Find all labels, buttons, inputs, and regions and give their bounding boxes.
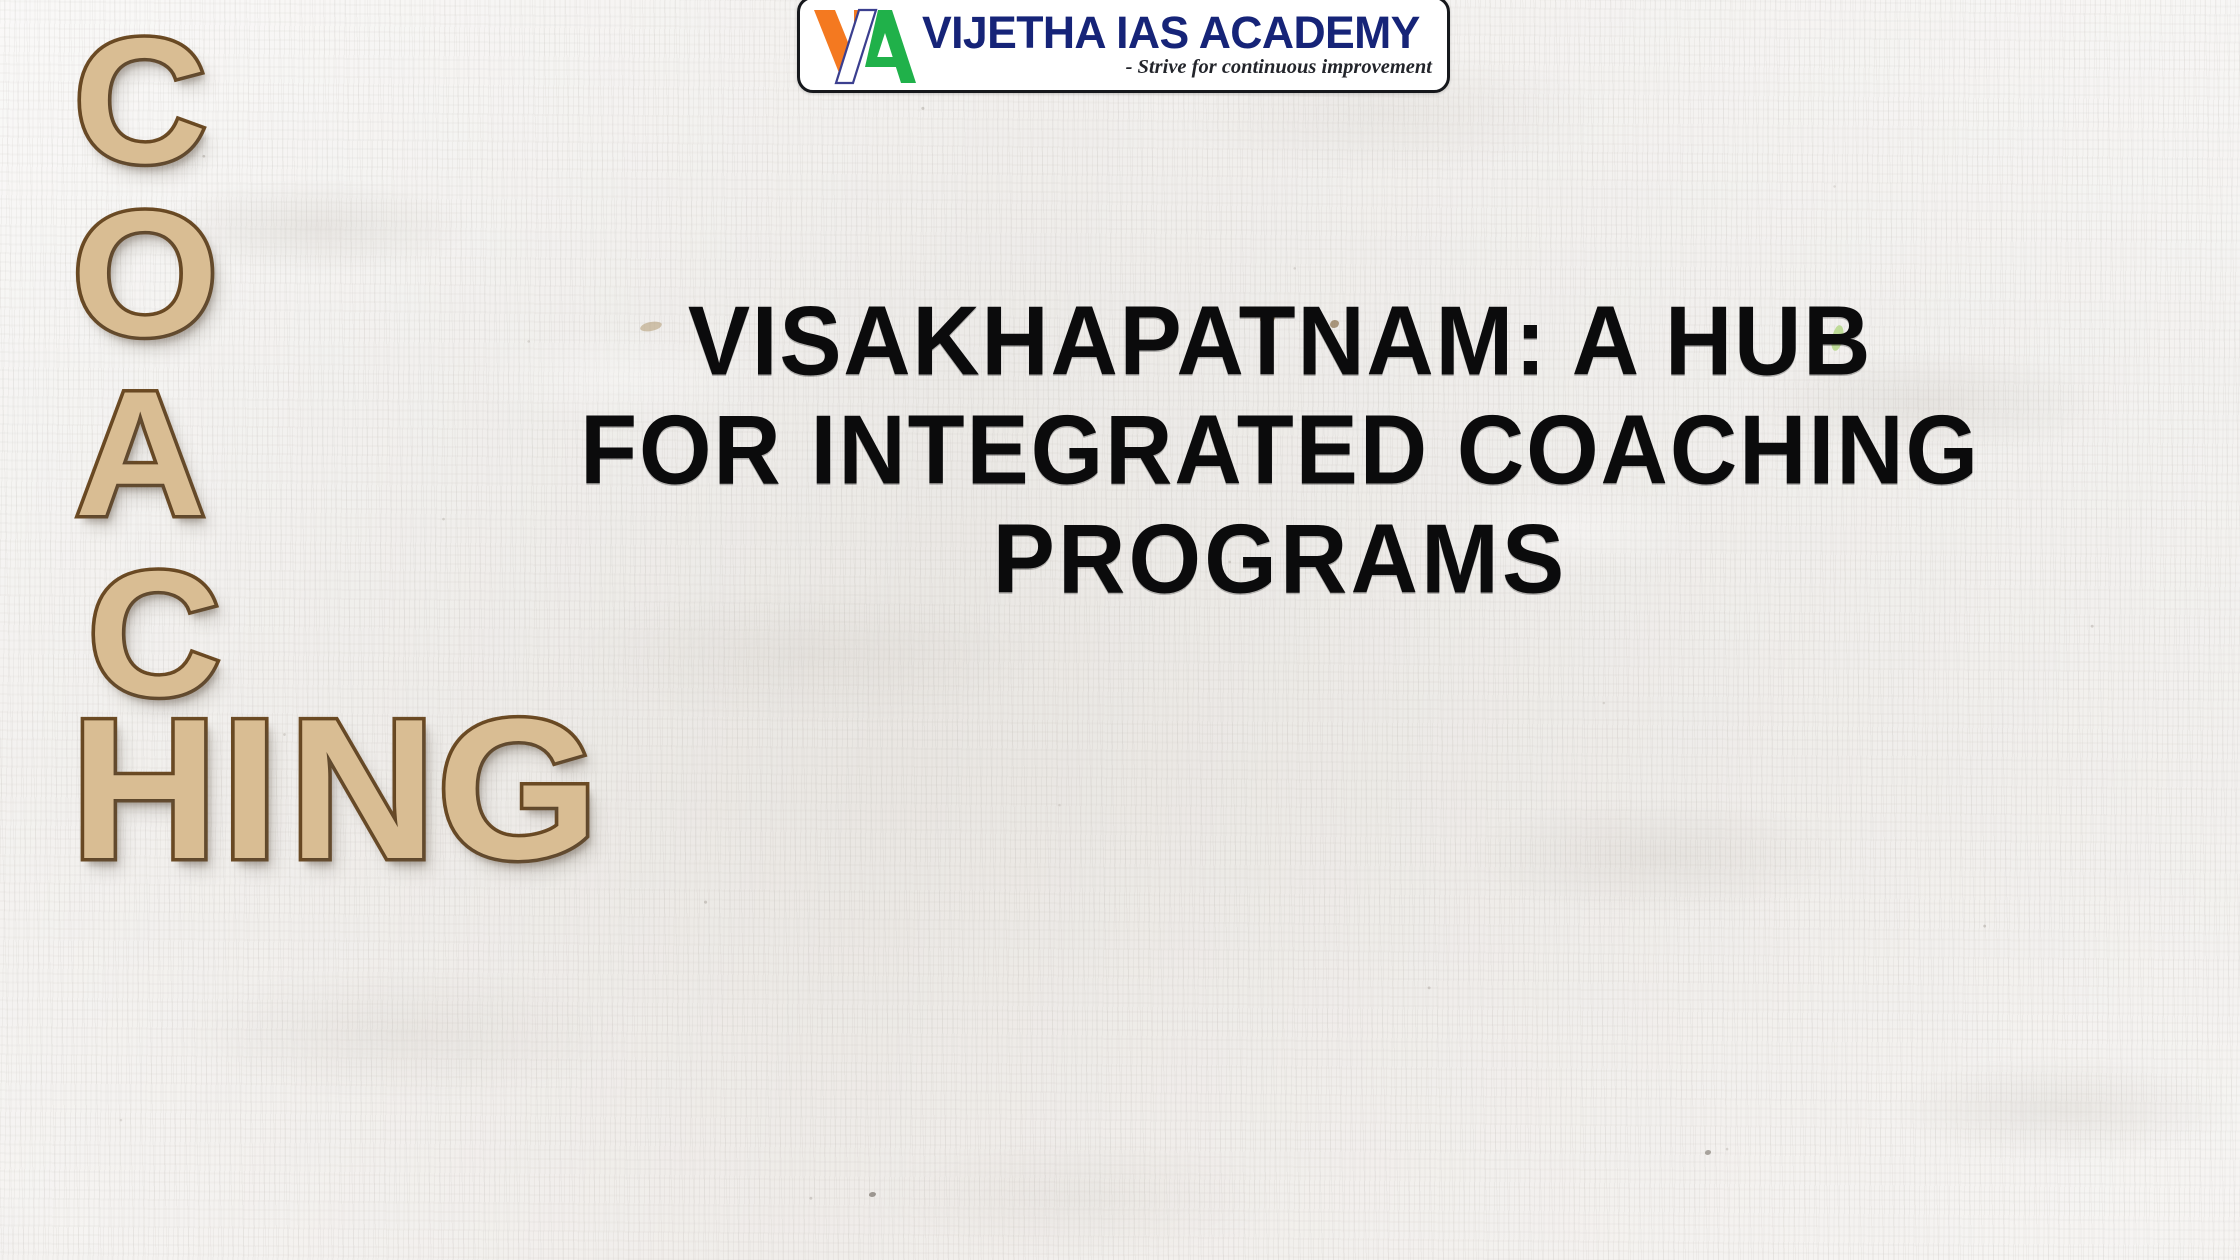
page-title: VISAKHAPATNAM: A HUB FOR INTEGRATED COAC…: [380, 286, 2180, 613]
wooden-letter-h: H: [71, 690, 218, 890]
wooden-coaching-letters: C O A C H I N G: [0, 0, 680, 1260]
wooden-letter-o: O: [72, 185, 219, 363]
poster-canvas: C O A C H I N G VISAKHAPATNAM: A HUB FOR…: [0, 0, 2240, 1260]
headline-line-3: PROGRAMS: [326, 497, 2234, 619]
wooden-letter-i: I: [221, 690, 279, 890]
vijetha-va-monogram-icon: [812, 5, 920, 85]
wooden-letter-g: G: [437, 690, 599, 890]
headline-line-2: FOR INTEGRATED COACHING: [326, 388, 2234, 510]
wooden-letter-n: N: [289, 690, 436, 890]
logo-title: VIJETHA IAS ACADEMY: [922, 11, 1432, 54]
academy-logo-badge[interactable]: VIJETHA IAS ACADEMY - Strive for continu…: [797, 0, 1450, 93]
wooden-letter-c: C: [73, 12, 207, 190]
logo-tagline: - Strive for continuous improvement: [922, 57, 1437, 79]
wooden-letter-a: A: [75, 365, 206, 543]
headline-line-1: VISAKHAPATNAM: A HUB: [326, 279, 2234, 401]
logo-text-block: VIJETHA IAS ACADEMY - Strive for continu…: [922, 11, 1437, 79]
